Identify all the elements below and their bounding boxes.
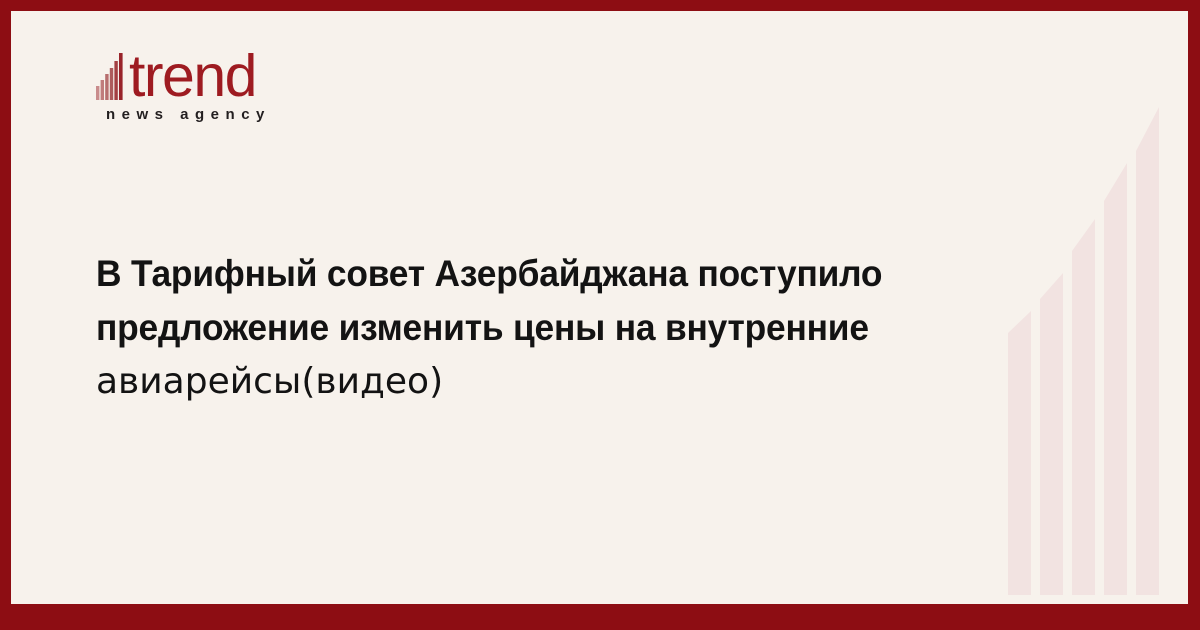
headline-line-2: предложение изменить цены на внутренние [96, 301, 946, 355]
ascending-bar-3 [1072, 219, 1095, 595]
trend-logo[interactable]: trend news agency [96, 45, 396, 123]
og-share-card: trend news agency В Тарифный совет Азерб… [0, 0, 1200, 630]
logo-wordmark: trend [129, 51, 256, 101]
ascending-bar-2 [1040, 273, 1063, 595]
headline-line-3: авиарейсы(видео) [96, 355, 986, 409]
ascending-bar-5 [1136, 107, 1159, 595]
logo-mark-row: trend [96, 45, 396, 101]
headline-line-1: В Тарифный совет Азербайджана поступило [96, 247, 946, 301]
card-surface: trend news agency В Тарифный совет Азерб… [11, 11, 1188, 604]
headline: В Тарифный совет Азербайджана поступило … [96, 247, 986, 409]
ascending-bar-4 [1104, 163, 1127, 595]
ascending-bars-watermark [998, 11, 1188, 604]
ascending-bar-1 [1008, 311, 1031, 595]
logo-tagline: news agency [106, 106, 396, 123]
trend-ascending-bars-mark [96, 50, 128, 100]
